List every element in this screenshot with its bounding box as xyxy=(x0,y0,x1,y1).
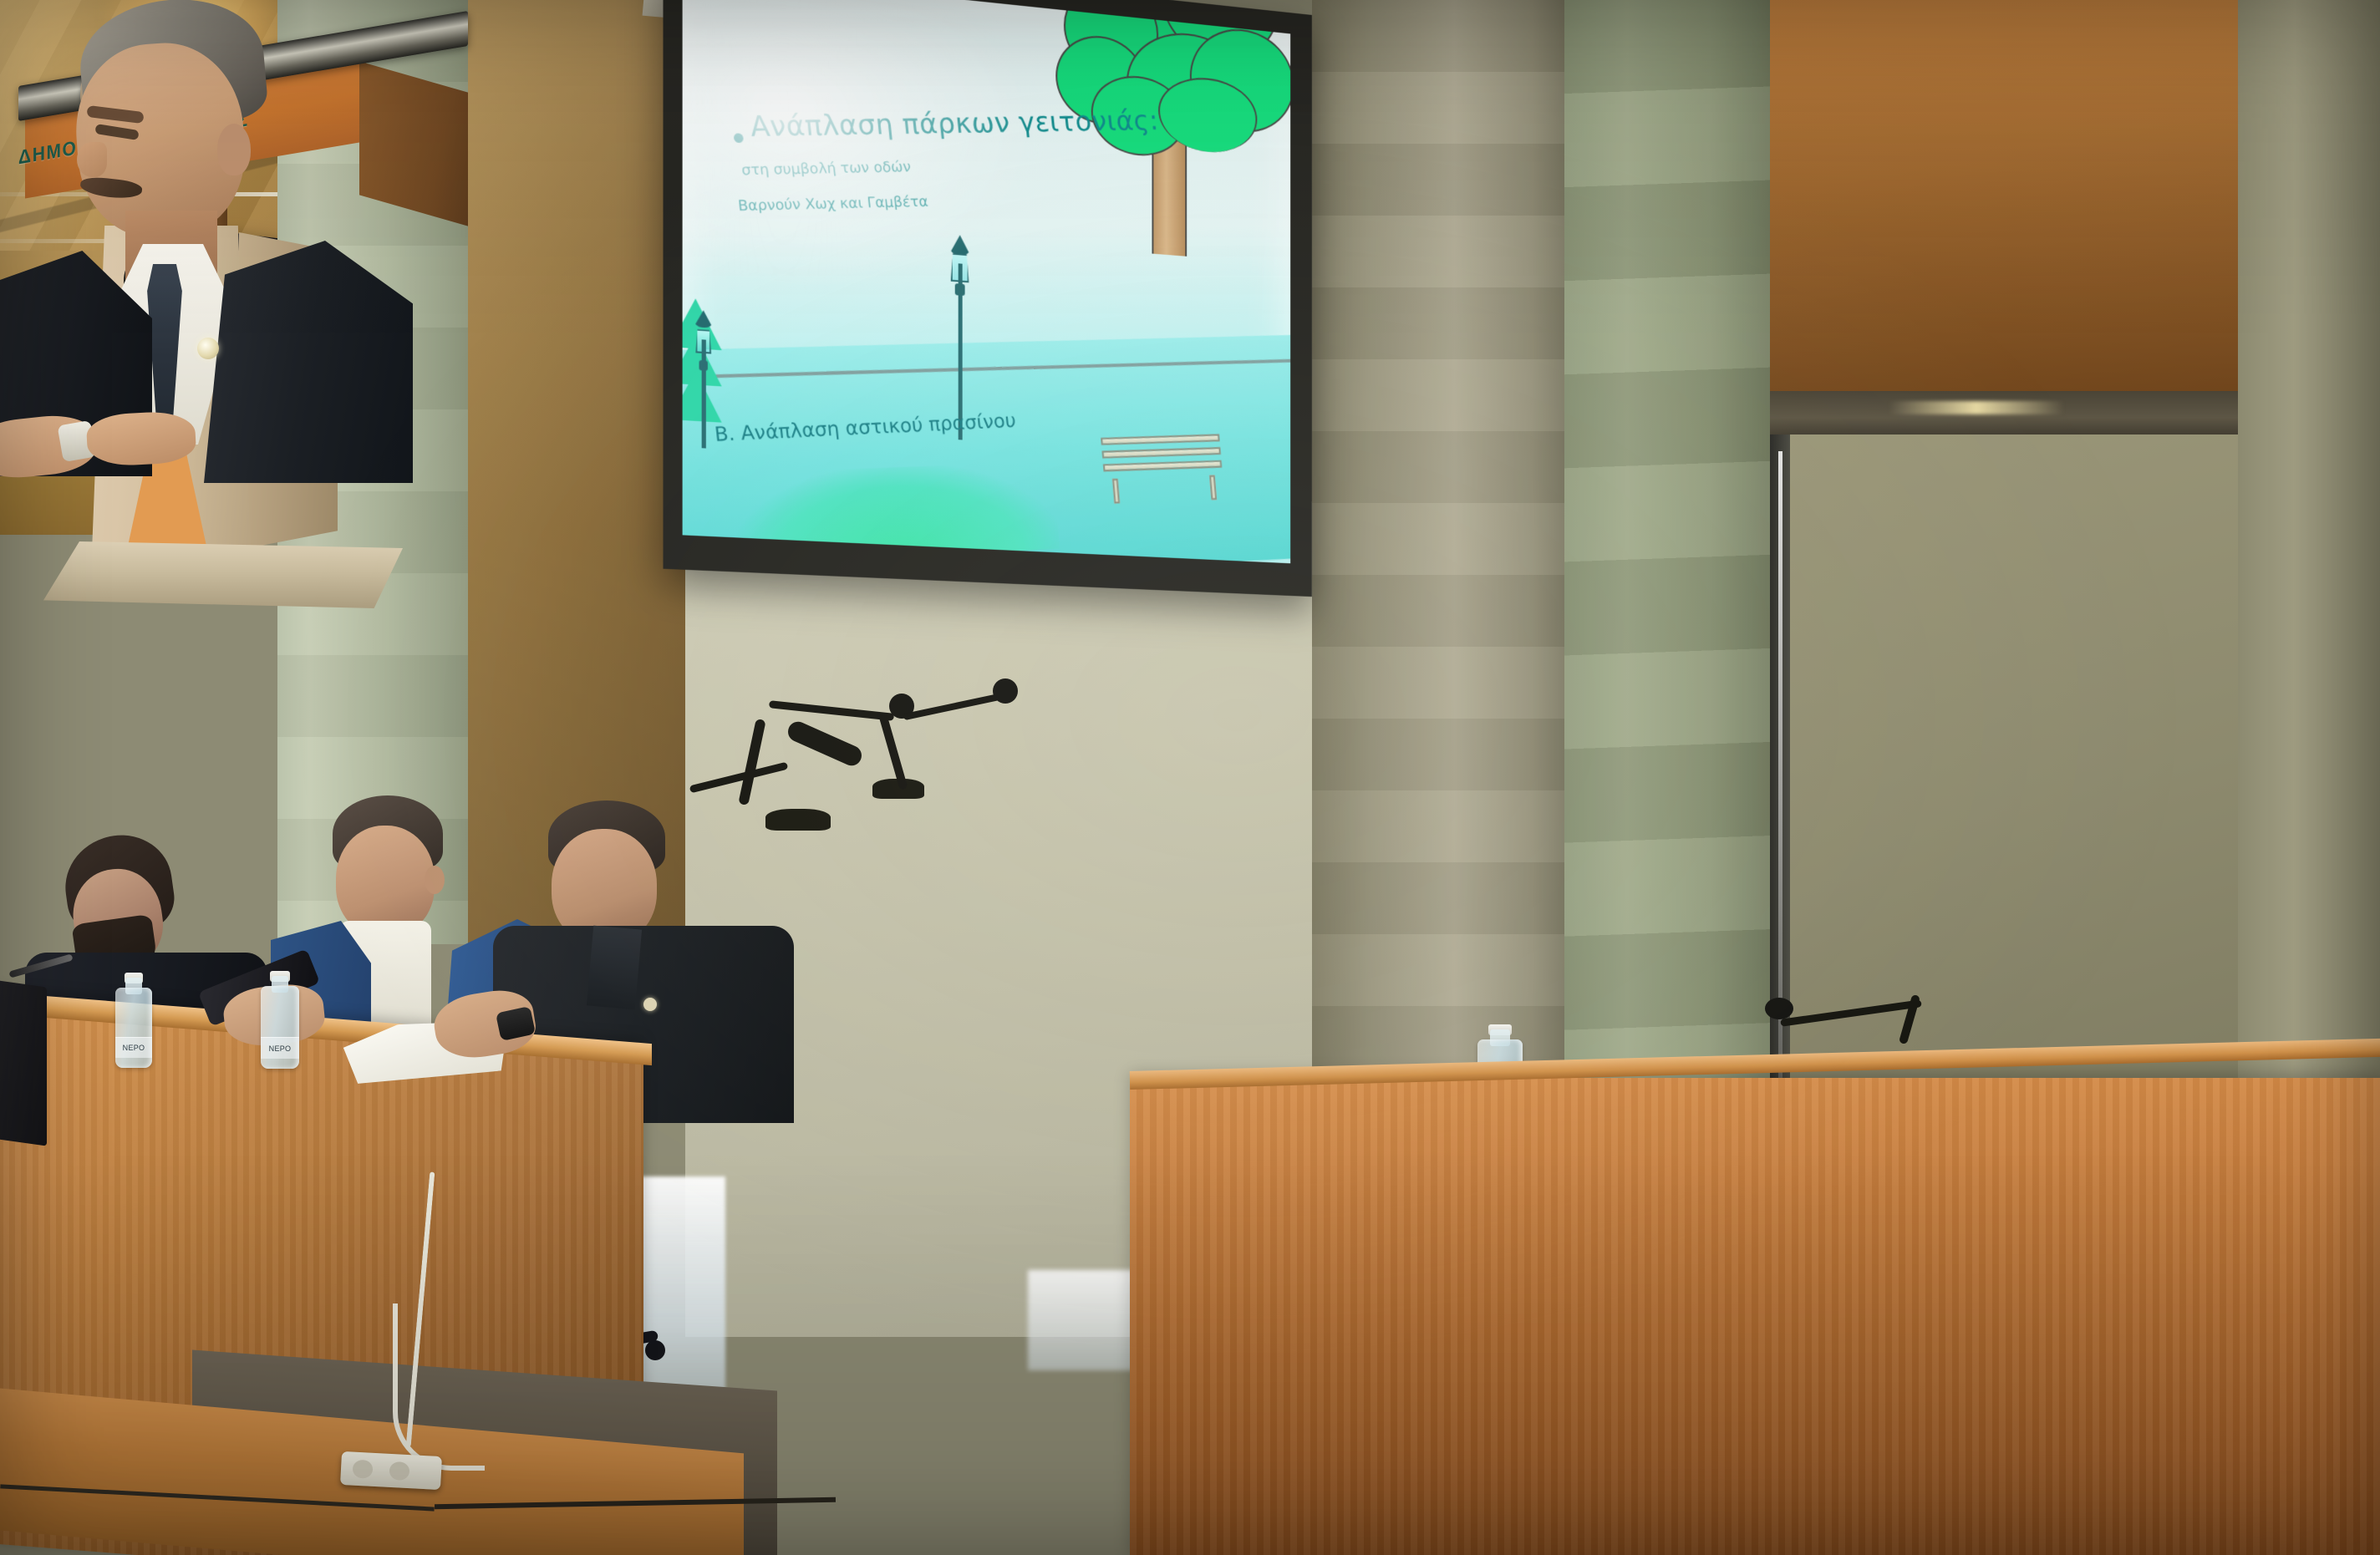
slide-surface: Ανάπλαση πάρκων γειτονιάς: στη συμβολή τ… xyxy=(683,0,1291,563)
power-strip xyxy=(340,1451,442,1490)
park-bench-icon xyxy=(1101,434,1223,485)
conference-hall-photo: Ανάπλαση πάρκων γειτονιάς: στη συμβολή τ… xyxy=(0,0,2380,1555)
ear xyxy=(425,866,445,894)
ear xyxy=(217,124,251,175)
concrete-column-middle xyxy=(1312,0,1571,1136)
bottle-label: ΝΕΡΟ xyxy=(115,1037,152,1058)
slide-grass-mound xyxy=(730,462,1060,563)
lapel-pin-icon xyxy=(197,338,219,359)
screen-glare xyxy=(683,0,1033,301)
podium-microphone-right xyxy=(886,692,1036,842)
wood-shelf-ledge xyxy=(1770,391,2238,440)
shelf-light-reflection xyxy=(1889,401,2064,414)
street-lamp-icon-small xyxy=(692,310,715,450)
wood-panel-upper-right xyxy=(1770,0,2238,401)
shirt-collar xyxy=(587,926,642,1010)
bottle-body: ΝΕΡΟ xyxy=(261,986,299,1069)
lapel-pin-icon xyxy=(643,998,657,1011)
water-bottle: ΝΕΡΟ xyxy=(261,971,299,1080)
concrete-column-far-right xyxy=(2238,0,2380,1253)
nose xyxy=(77,142,107,177)
bottle-label: ΝΕΡΟ xyxy=(261,1037,299,1059)
projection-screen: Ανάπλαση πάρκων γειτονιάς: στη συμβολή τ… xyxy=(664,0,1312,597)
laptop-device xyxy=(0,978,47,1146)
podium-base-plinth xyxy=(43,541,403,608)
water-bottle: ΝΕΡΟ xyxy=(115,973,152,1078)
council-desk-right xyxy=(1130,1078,2380,1555)
concrete-column-green xyxy=(1564,0,1773,1145)
face xyxy=(336,826,435,936)
bottle-body: ΝΕΡΟ xyxy=(115,988,152,1068)
